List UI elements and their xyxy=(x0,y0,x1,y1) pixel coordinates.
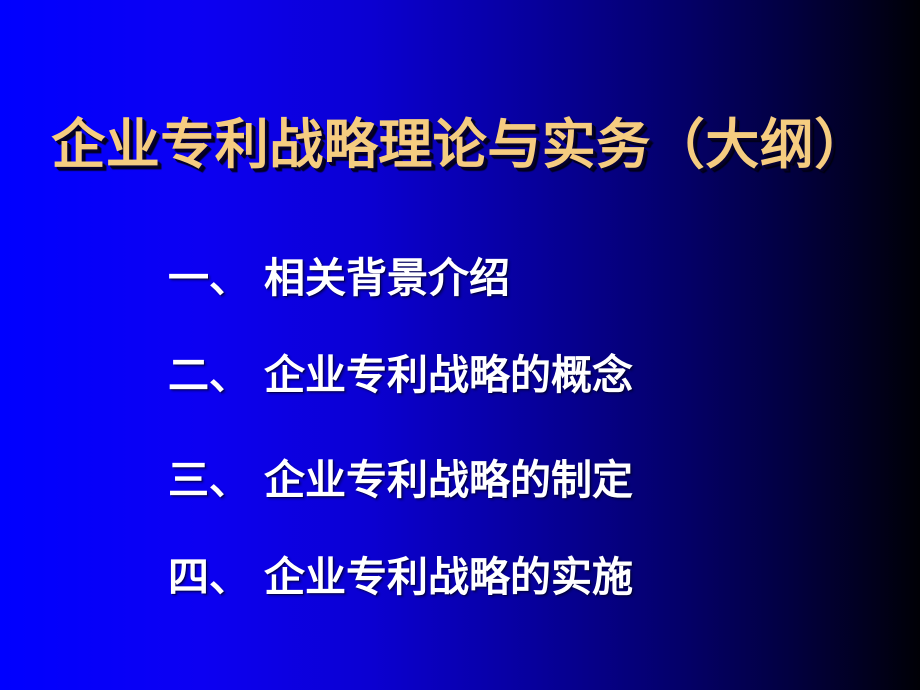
list-item[interactable]: 二、企业专利战略的概念 xyxy=(168,355,868,396)
list-item-label: 企业专利战略的概念 xyxy=(264,351,633,399)
slide-title-block: 企业专利战略理论与实务（大纲） xyxy=(0,118,920,172)
list-item-label: 企业专利战略的制定 xyxy=(264,456,633,504)
list-item-marker: 四、 xyxy=(168,553,250,601)
list-item-label: 相关背景介绍 xyxy=(264,254,510,302)
list-item-marker: 一、 xyxy=(168,254,250,302)
outline-list: 一、相关背景介绍 二、企业专利战略的概念 三、企业专利战略的制定 四、企业专利战… xyxy=(168,258,868,598)
list-item[interactable]: 三、企业专利战略的制定 xyxy=(168,460,868,501)
list-item-label: 企业专利战略的实施 xyxy=(264,553,633,601)
presentation-slide: 企业专利战略理论与实务（大纲） 一、相关背景介绍 二、企业专利战略的概念 三、企… xyxy=(0,0,920,690)
list-item-marker: 三、 xyxy=(168,456,250,504)
list-item-marker: 二、 xyxy=(168,351,250,399)
list-item[interactable]: 一、相关背景介绍 xyxy=(168,258,868,299)
list-item[interactable]: 四、企业专利战略的实施 xyxy=(168,557,868,598)
slide-title: 企业专利战略理论与实务（大纲） xyxy=(51,118,869,172)
